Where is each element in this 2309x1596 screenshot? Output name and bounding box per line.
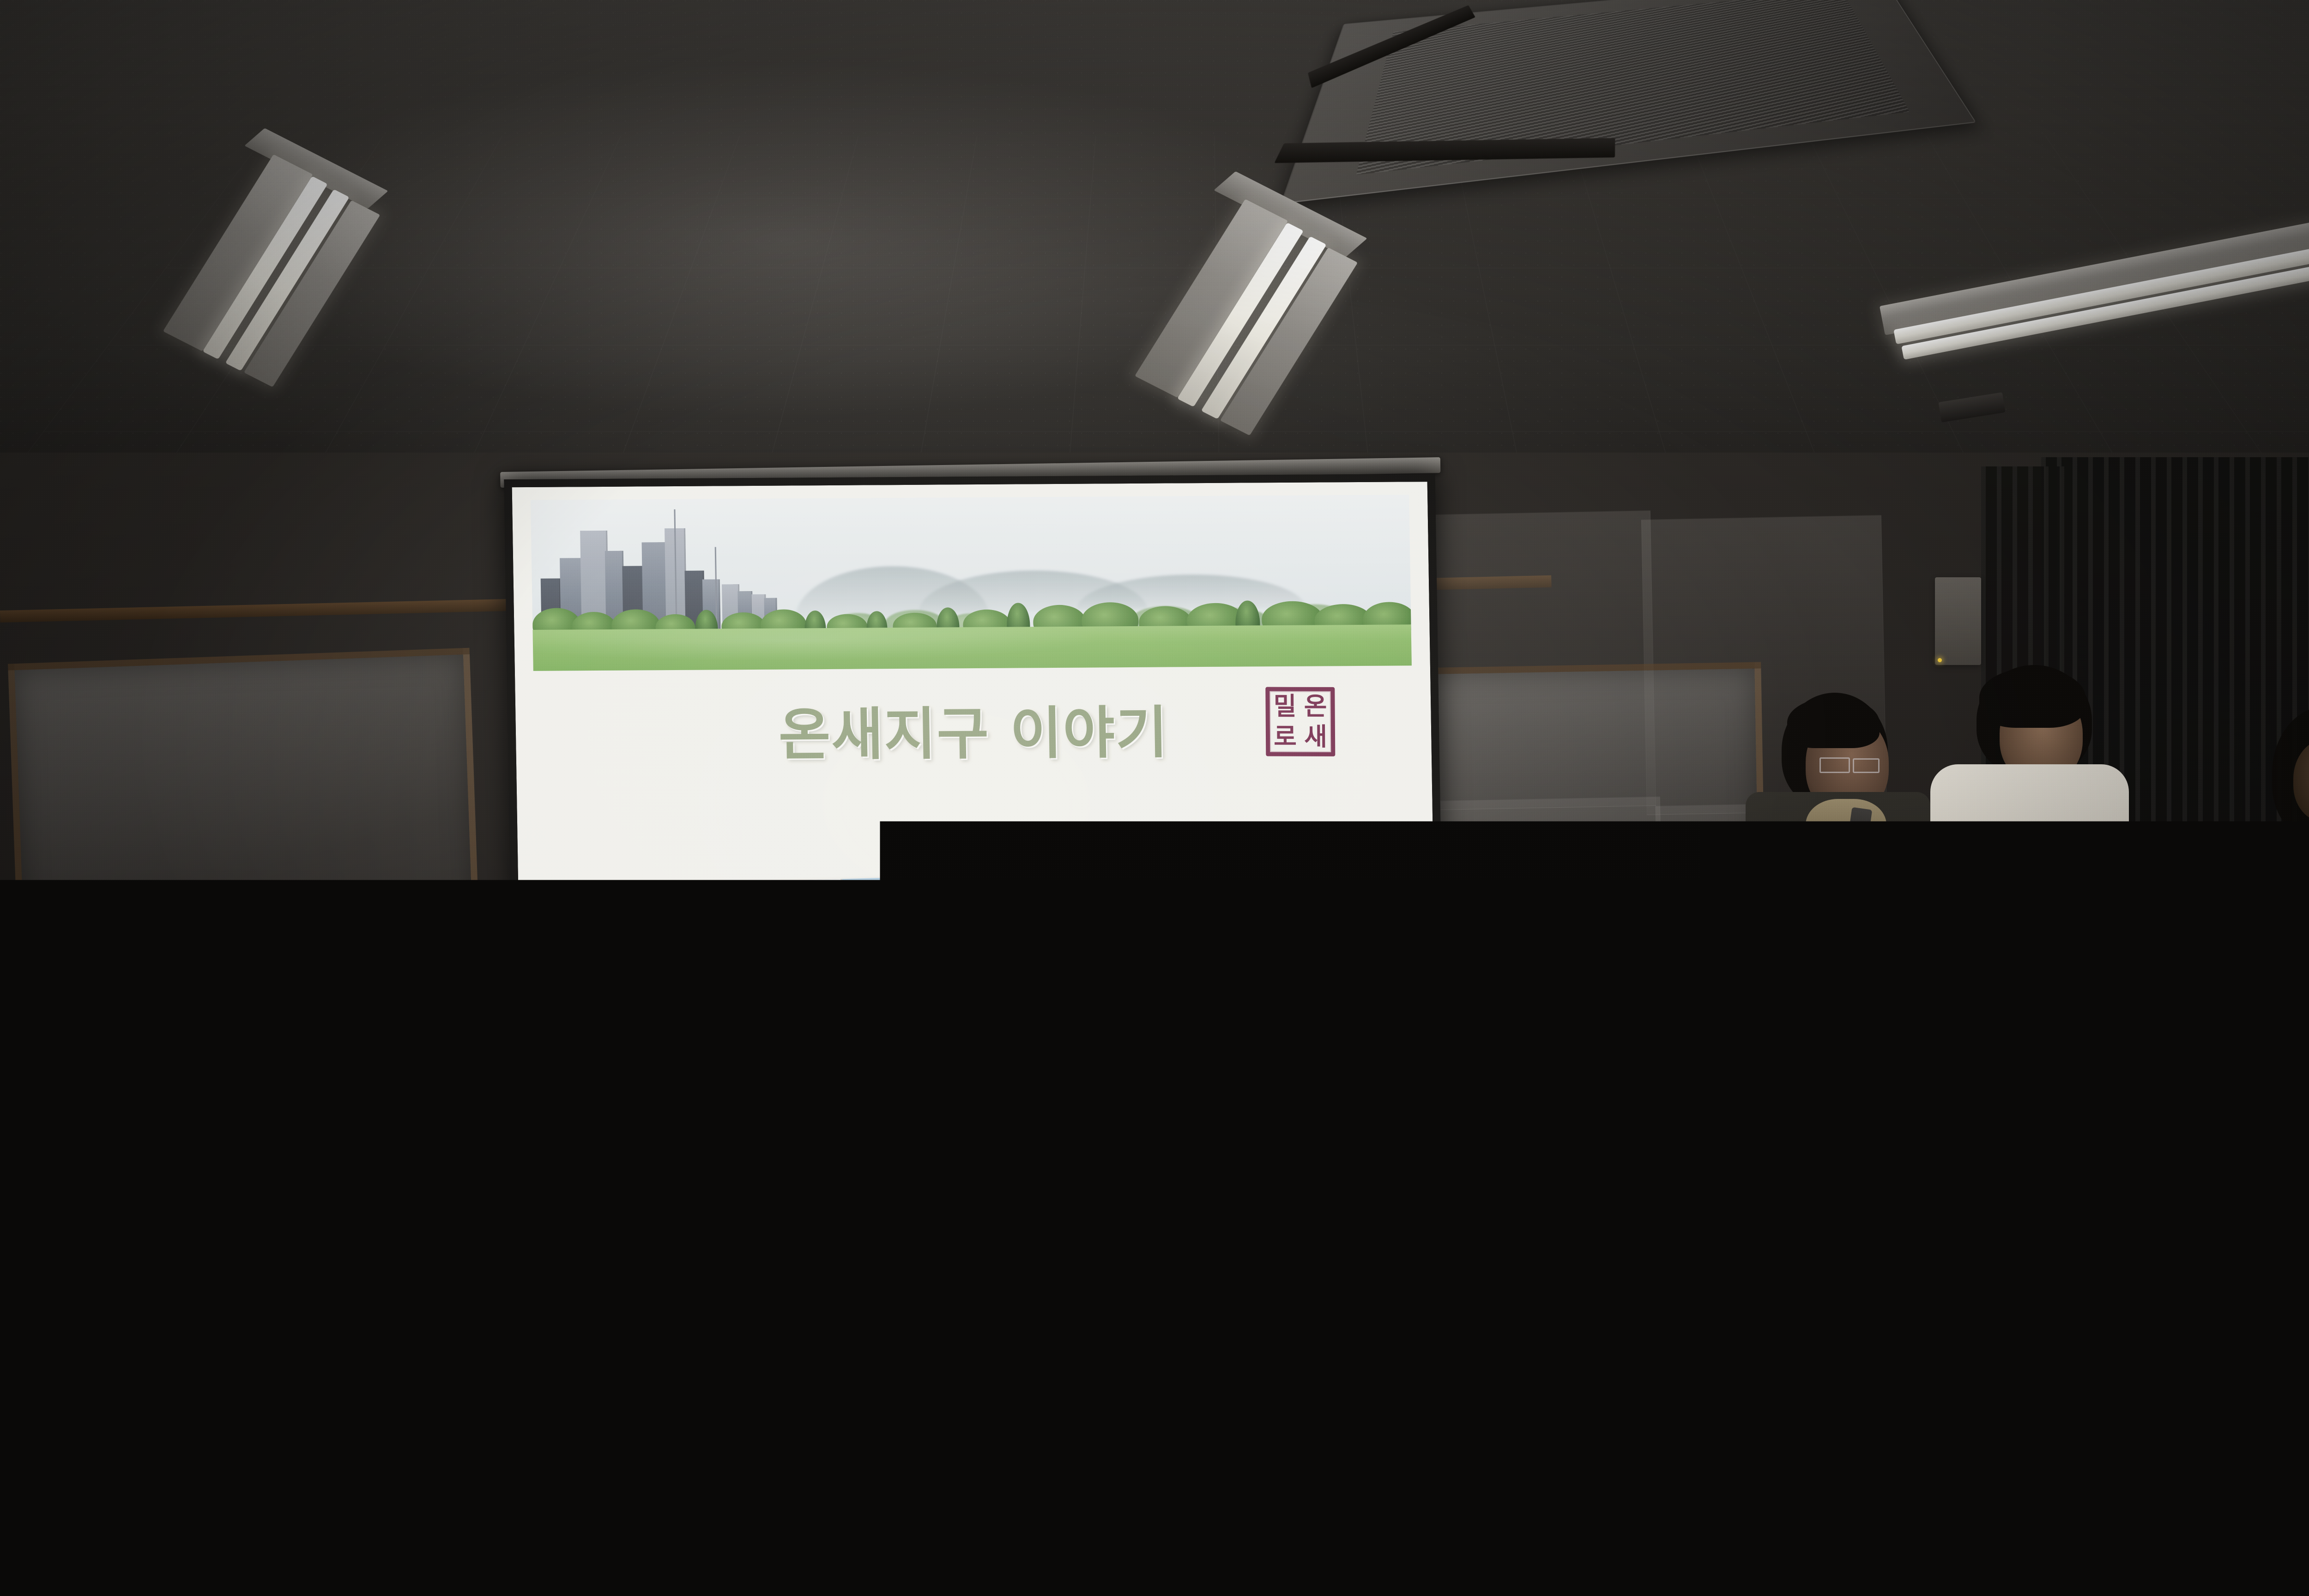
projection-screen-surface: 온새지구 이야기 밀 온 로 새 bbox=[504, 474, 1446, 1221]
chair[interactable] bbox=[592, 1364, 771, 1596]
chair-backrest bbox=[1207, 1424, 1366, 1596]
chair-handle-cutout bbox=[1516, 1359, 1558, 1382]
air-conditioner-vane bbox=[1274, 138, 1615, 163]
slide-photo-2 bbox=[762, 875, 977, 1081]
student-hair-fringe bbox=[1979, 668, 2085, 728]
seal-cell: 새 bbox=[1304, 725, 1327, 750]
stool-seat bbox=[318, 1290, 438, 1385]
chair-handle-cutout bbox=[1622, 1463, 1668, 1487]
poster-site-plan bbox=[0, 1020, 324, 1332]
presentation-slide: 온새지구 이야기 밀 온 로 새 bbox=[512, 482, 1439, 1213]
banner-lawn bbox=[532, 624, 1412, 671]
seal-cell: 온 bbox=[1304, 694, 1327, 719]
chair[interactable] bbox=[1207, 1424, 1366, 1596]
chair-handle-cutout bbox=[654, 1421, 705, 1447]
whiteboard-right bbox=[1410, 662, 1767, 1028]
chair[interactable] bbox=[1567, 1410, 1725, 1591]
chair-handle-cutout bbox=[325, 1435, 375, 1461]
chair-backrest bbox=[1862, 1387, 2021, 1568]
photo-path bbox=[844, 1034, 978, 1078]
photo-building bbox=[713, 905, 758, 1038]
chair-backrest bbox=[592, 1364, 771, 1596]
presenter-hair-fringe bbox=[1787, 697, 1880, 748]
legend-item: PUBLIC FACILITY bbox=[32, 1360, 91, 1373]
chair-backrest bbox=[1567, 1410, 1725, 1591]
presenter-glasses bbox=[1853, 758, 1880, 773]
seal-cell: 밀 bbox=[1273, 694, 1296, 719]
chair-handle-cutout bbox=[1336, 1352, 1378, 1375]
poster-legend: LEGEND RESIDENTIAL COMMERCIAL PARK / GRE… bbox=[28, 1315, 91, 1384]
photo-building bbox=[671, 926, 716, 1040]
slide-photo-4 bbox=[1191, 863, 1406, 1068]
compass-north-icon bbox=[307, 1019, 338, 1055]
photo-gazebo-deck bbox=[1042, 1003, 1123, 1021]
chair-handle-cutout bbox=[1262, 1477, 1308, 1500]
status-led-red bbox=[2080, 1080, 2085, 1084]
slide-photo-strip bbox=[548, 863, 1406, 1087]
chair-handle-cutout bbox=[1918, 1440, 1964, 1463]
chair-handle-cutout bbox=[1654, 1348, 1697, 1370]
seal-cell: 로 bbox=[1274, 725, 1297, 750]
chair[interactable] bbox=[1862, 1387, 2021, 1568]
chair[interactable] bbox=[264, 1378, 438, 1596]
podium-label bbox=[2017, 1106, 2059, 1123]
presenter-glasses bbox=[1819, 757, 1850, 773]
photo-sidewalk bbox=[1191, 1019, 1382, 1068]
slide-photo-3 bbox=[976, 869, 1191, 1074]
status-led-yellow bbox=[1938, 658, 1942, 662]
photo-apartment-tower bbox=[809, 875, 845, 1024]
plan-public-facility bbox=[158, 1274, 199, 1314]
chair-sticker bbox=[1266, 1542, 1309, 1561]
photo-road bbox=[550, 1053, 762, 1087]
chair-sticker bbox=[1626, 1528, 1669, 1548]
lecture-hall-photo: 온새지구 이야기 밀 온 로 새 bbox=[0, 0, 2309, 1596]
chair-backrest bbox=[264, 1378, 438, 1596]
presenter-hand bbox=[1838, 854, 1880, 899]
plan-commercial-row bbox=[191, 1037, 251, 1147]
slide-photo-1 bbox=[548, 881, 763, 1087]
status-led-white bbox=[2073, 1079, 2077, 1083]
wall-speaker bbox=[1935, 577, 1981, 665]
slide-banner-image bbox=[531, 495, 1412, 671]
side-table-front bbox=[2030, 1287, 2309, 1433]
legend-item: ROAD bbox=[33, 1371, 91, 1384]
projection-screen[interactable]: 온새지구 이야기 밀 온 로 새 bbox=[500, 457, 1452, 1239]
seal-stamp: 밀 온 로 새 bbox=[1265, 687, 1335, 756]
podium-label bbox=[1967, 1129, 1986, 1138]
slide-credits: 대구대학교 행정대 도시·지역계획학 김진혁 박상균 방광현 석혜민 bbox=[522, 1079, 1438, 1148]
